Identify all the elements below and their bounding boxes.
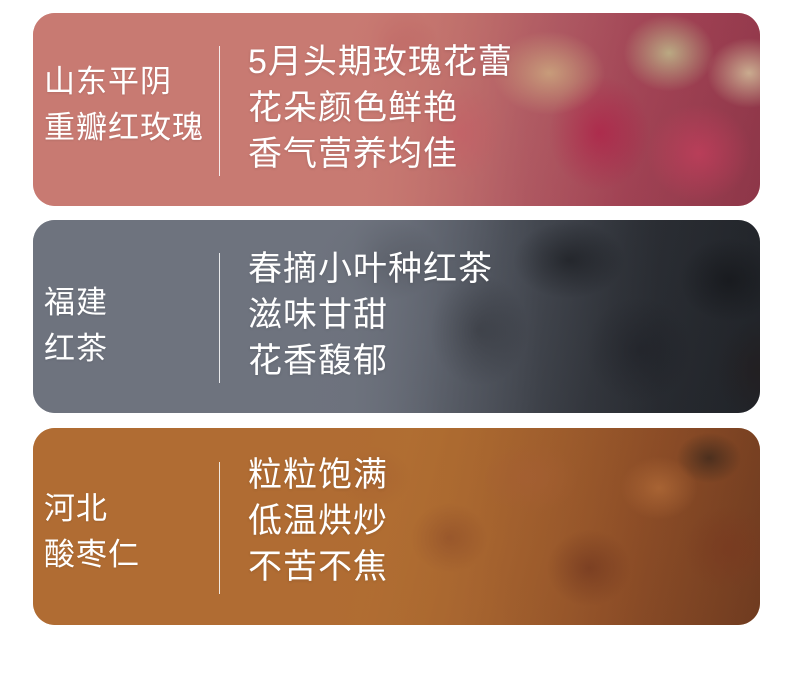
card-content: 山东平阴 重瓣红玫瑰 5月头期玫瑰花蕾 花朵颜色鲜艳 香气营养均佳 — [33, 13, 760, 206]
card-origin-label: 河北 酸枣仁 — [44, 486, 224, 578]
ingredient-card-black-tea[interactable]: 福建 红茶 春摘小叶种红茶 滋味甘甜 花香馥郁 — [33, 220, 760, 413]
card-divider — [219, 253, 220, 383]
card-content: 福建 红茶 春摘小叶种红茶 滋味甘甜 花香馥郁 — [33, 220, 760, 413]
card-origin-label: 山东平阴 重瓣红玫瑰 — [44, 59, 224, 151]
card-description-text: 5月头期玫瑰花蕾 花朵颜色鲜艳 香气营养均佳 — [248, 39, 513, 177]
ingredient-card-jujube-seed[interactable]: 河北 酸枣仁 粒粒饱满 低温烘炒 不苦不焦 — [33, 428, 760, 625]
ingredient-cards-page: 山东平阴 重瓣红玫瑰 5月头期玫瑰花蕾 花朵颜色鲜艳 香气营养均佳 福建 红茶 … — [0, 0, 790, 696]
card-divider — [219, 46, 220, 176]
card-description-text: 春摘小叶种红茶 滋味甘甜 花香馥郁 — [248, 246, 493, 384]
card-divider — [219, 462, 220, 594]
card-description-text: 粒粒饱满 低温烘炒 不苦不焦 — [248, 452, 388, 590]
card-content: 河北 酸枣仁 粒粒饱满 低温烘炒 不苦不焦 — [33, 428, 760, 625]
ingredient-card-rose[interactable]: 山东平阴 重瓣红玫瑰 5月头期玫瑰花蕾 花朵颜色鲜艳 香气营养均佳 — [33, 13, 760, 206]
card-origin-label: 福建 红茶 — [44, 280, 224, 372]
